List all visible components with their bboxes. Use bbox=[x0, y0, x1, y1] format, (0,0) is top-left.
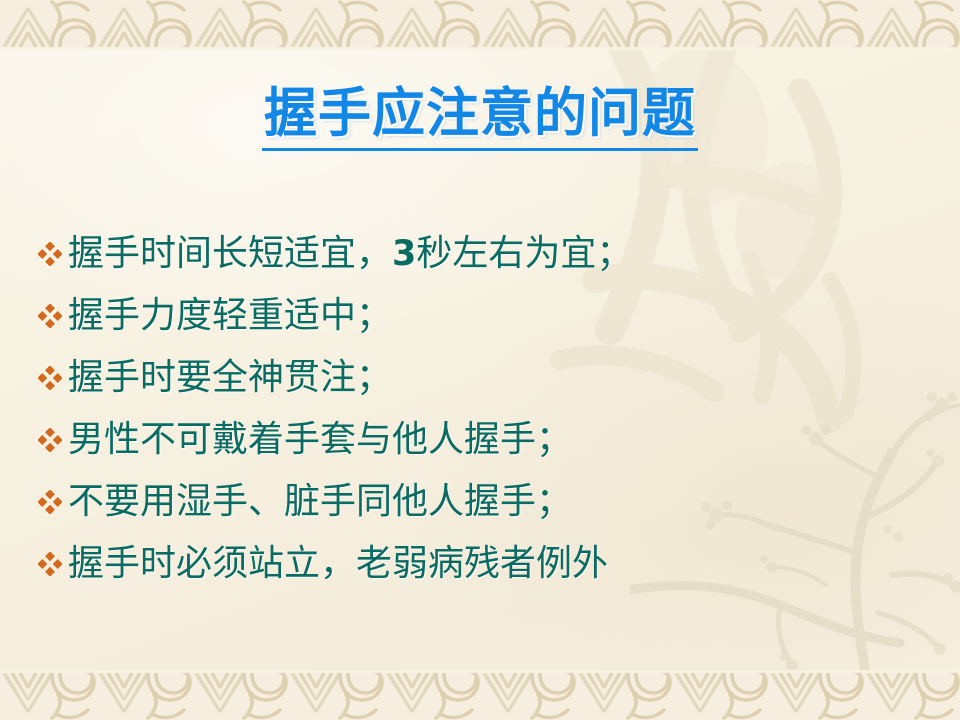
diamond-cluster-bullet-icon bbox=[34, 357, 68, 403]
top-decorative-border bbox=[0, 0, 960, 50]
list-item-text: 男性不可戴着手套与他人握手； bbox=[68, 417, 914, 463]
bullet-text-prefix: 握手时间长短适宜， bbox=[68, 233, 392, 274]
list-item: 不要用湿手、脏手同他人握手； bbox=[34, 479, 914, 541]
list-item: 握手时要全神贯注； bbox=[34, 355, 914, 417]
presentation-slide: 握手应注意的问题 握手时间长短适宜，3秒左右为宜； bbox=[0, 0, 960, 720]
bullet-text-prefix: 握手时要全神贯注； bbox=[68, 357, 392, 398]
diamond-cluster-bullet-icon bbox=[34, 419, 68, 465]
list-item: 握手力度轻重适中； bbox=[34, 293, 914, 355]
bullet-text-number: 3 bbox=[392, 234, 416, 274]
diamond-cluster-bullet-icon bbox=[34, 481, 68, 527]
title-container: 握手应注意的问题 bbox=[0, 86, 960, 151]
list-item: 男性不可戴着手套与他人握手； bbox=[34, 417, 914, 479]
list-item-text: 不要用湿手、脏手同他人握手； bbox=[68, 479, 914, 525]
bullet-text-prefix: 握手时必须站立，老弱病残者例外 bbox=[68, 543, 608, 584]
list-item: 握手时间长短适宜，3秒左右为宜； bbox=[34, 231, 914, 293]
diamond-cluster-bullet-icon bbox=[34, 543, 68, 589]
bullet-text-prefix: 男性不可戴着手套与他人握手； bbox=[68, 419, 572, 460]
page-title: 握手应注意的问题 bbox=[262, 86, 698, 151]
diamond-cluster-bullet-icon bbox=[34, 233, 68, 279]
bottom-decorative-border bbox=[0, 670, 960, 720]
bullet-text-prefix: 握手力度轻重适中； bbox=[68, 295, 392, 336]
list-item-text: 握手力度轻重适中； bbox=[68, 293, 914, 339]
bullet-text-prefix: 不要用湿手、脏手同他人握手； bbox=[68, 481, 572, 522]
list-item-text: 握手时要全神贯注； bbox=[68, 355, 914, 401]
list-item-text: 握手时间长短适宜，3秒左右为宜； bbox=[68, 231, 914, 277]
diamond-cluster-bullet-icon bbox=[34, 295, 68, 341]
bullet-text-suffix: 秒左右为宜； bbox=[416, 233, 632, 274]
list-item-text: 握手时必须站立，老弱病残者例外 bbox=[68, 541, 914, 587]
list-item: 握手时必须站立，老弱病残者例外 bbox=[34, 541, 914, 603]
bullet-list: 握手时间长短适宜，3秒左右为宜； 握手力度轻重适中； bbox=[34, 231, 914, 603]
